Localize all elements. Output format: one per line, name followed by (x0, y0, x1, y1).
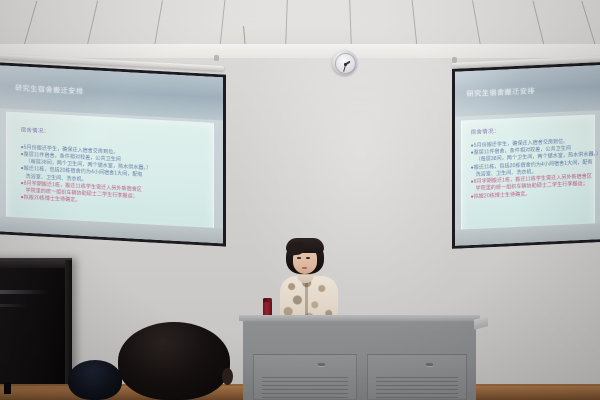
piano-highlight (0, 290, 48, 294)
presenter (278, 238, 340, 324)
podium-handle-right (426, 363, 433, 366)
presenter-mouth (302, 267, 307, 269)
presenter-eye-left (297, 257, 301, 259)
roller-cap-left (214, 55, 219, 61)
screen-canvas-left: 研究生宿舍搬迁安排 宿舍情况： ●5月份搬迁学生，确保迁入宿舍交房到位。 ●整层… (0, 65, 223, 243)
piano-highlight (0, 304, 28, 307)
piano-lid (0, 258, 72, 268)
thermos-cap (263, 298, 272, 302)
slide-heading-right: 宿舍情况： (471, 123, 587, 136)
slide-title-bar-right: 研究生宿舍搬迁安排 (455, 65, 600, 117)
podium-handle-left (318, 363, 325, 366)
upright-piano (0, 258, 72, 384)
lecture-hall-photo: 研究生宿舍搬迁安排 宿舍情况： ●5月份搬迁学生，确保迁入宿舍交房到位。 ●整层… (0, 0, 600, 400)
slide-left: 研究生宿舍搬迁安排 宿舍情况： ●5月份搬迁学生，确保迁入宿舍交房到位。 ●整层… (0, 65, 223, 243)
roller-cap-right (452, 57, 457, 63)
clock-face (335, 53, 356, 74)
presenter-eye-right (306, 257, 310, 259)
audience-ear (222, 368, 233, 385)
slide-body-right: 宿舍情况： ●5月份搬迁学生，确保迁入宿舍交房到位。 ●整层11件宿舍，条件相对… (461, 114, 595, 235)
ceiling (0, 0, 600, 48)
slide-right: 研究生宿舍搬迁安排 宿舍情况： ●5月份搬迁学生，确保迁入宿舍交房到位。 ●整层… (455, 65, 600, 246)
slide-title-left: 研究生宿舍搬迁安排 (0, 82, 83, 97)
projection-screen-left: 研究生宿舍搬迁安排 宿舍情况： ●5月份搬迁学生，确保迁入宿舍交房到位。 ●整层… (0, 62, 226, 247)
slide-heading-left: 宿舍情况： (21, 125, 202, 143)
slide-title-right: 研究生宿舍搬迁安排 (455, 86, 535, 100)
lecture-podium (243, 318, 476, 400)
audience-head (118, 322, 230, 400)
audience-head (68, 360, 122, 400)
piano-side-edge (65, 260, 72, 384)
podium-top-surface (239, 315, 480, 321)
clock-center-pin (344, 63, 346, 65)
podium-door-left (253, 354, 357, 400)
screen-canvas-right: 研究生宿舍搬迁安排 宿舍情况： ●5月份搬迁学生，确保迁入宿舍交房到位。 ●整层… (455, 65, 600, 246)
piano-leg (4, 382, 11, 394)
slide-body-left: 宿舍情况： ●5月份搬迁学生，确保迁入宿舍交房到位。 ●整层11件宿舍，条件相对… (6, 112, 214, 233)
projection-screen-right: 研究生宿舍搬迁安排 宿舍情况： ●5月份搬迁学生，确保迁入宿舍交房到位。 ●整层… (452, 62, 600, 249)
wall-clock (332, 50, 357, 75)
podium-door-right (367, 354, 467, 400)
